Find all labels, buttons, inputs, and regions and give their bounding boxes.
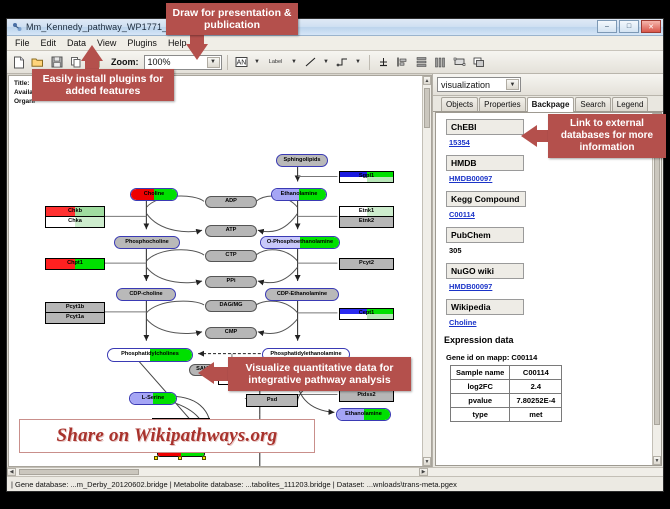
links-callout-arrow-icon (521, 125, 537, 147)
tab-backpage[interactable]: Backpage (527, 97, 575, 112)
backpage-content[interactable]: ChEBI 15354 HMDB HMDB00097 Kegg Compound… (435, 112, 662, 466)
plugins-callout-text: Easily install plugins for added feature… (38, 73, 168, 98)
db-link-kegg[interactable]: C00114 (449, 210, 661, 219)
db-value-pubchem: 305 (449, 246, 661, 255)
node-cdp-choline[interactable]: CDP-choline (116, 288, 176, 301)
chevron-down-icon[interactable]: ▼ (506, 79, 519, 90)
label-tool-text: Label (269, 59, 282, 65)
node-pcyt2[interactable]: Pcyt2 (339, 258, 394, 270)
node-label: CTP (225, 253, 236, 259)
gene-id-on-mapp: Gene id on mapp: C00114 (446, 353, 661, 362)
visualize-callout-arrow-icon (198, 362, 214, 384)
align-left-icon[interactable] (394, 54, 411, 71)
menu-plugins[interactable]: Plugins (125, 38, 159, 48)
table-row: Sample name C00114 (451, 366, 562, 380)
scroll-up-arrow[interactable]: ▲ (423, 76, 431, 85)
window-controls: – □ ✕ (597, 20, 661, 33)
node-psd[interactable]: Psd (246, 394, 298, 407)
close-button[interactable]: ✕ (641, 20, 661, 33)
node-pcyt1b[interactable]: Pcyt1b (45, 302, 105, 313)
toolbar-separator (227, 55, 228, 70)
node-label: Pcyt1b (66, 305, 84, 311)
node-atp[interactable]: ATP (205, 225, 257, 237)
visualization-value: visualization (441, 80, 490, 90)
menu-edit[interactable]: Edit (39, 38, 59, 48)
distribute-horizontal-icon[interactable] (432, 54, 449, 71)
draw-callout-arrow-icon (186, 44, 208, 60)
node-label: Psd (267, 398, 277, 404)
status-text: | Gene database: ...m_Derby_20120602.bri… (11, 480, 457, 489)
expr-key-type: type (451, 408, 510, 422)
links-callout: Link to external databases for more info… (548, 114, 666, 158)
node-label: Cept1 (359, 311, 375, 317)
draw-callout-text: Draw for presentation & publication (172, 7, 292, 32)
expr-key-pvalue: pvalue (451, 394, 510, 408)
anchor-icon[interactable] (375, 54, 392, 71)
tab-properties[interactable]: Properties (479, 97, 525, 111)
group-icon[interactable] (451, 54, 468, 71)
node-label: Sphingolipids (284, 158, 321, 164)
minimize-button[interactable]: – (597, 20, 617, 33)
db-link-hmdb[interactable]: HMDB00097 (449, 174, 661, 183)
expr-val-log2fc: 2.4 (510, 380, 562, 394)
tab-legend[interactable]: Legend (612, 97, 649, 111)
expr-val-type: met (510, 408, 562, 422)
line-icon[interactable] (302, 54, 319, 71)
node-chka[interactable]: Chka (45, 217, 105, 228)
connector-icon[interactable] (334, 54, 351, 71)
toolbar-separator-2 (369, 55, 370, 70)
node-pcyt1a[interactable]: Pcyt1a (45, 313, 105, 324)
node-label: O-Phosphoethanolamine (267, 240, 333, 246)
selection-handle-sw[interactable] (154, 456, 158, 460)
expr-val-pvalue: 7.80252E-4 (510, 394, 562, 408)
db-header-hmdb: HMDB (446, 155, 524, 171)
table-row: type met (451, 408, 562, 422)
db-header-kegg: Kegg Compound (446, 191, 526, 207)
scroll-left-arrow[interactable]: ◀ (7, 468, 16, 476)
line-style-dropdown-icon[interactable]: ▼ (321, 55, 332, 70)
node-label: Ethanolamine (345, 412, 382, 418)
node-label: CMP (225, 330, 237, 336)
visualize-callout-text: Visualize quantitative data for integrat… (234, 362, 405, 387)
node-ppi[interactable]: PPi (205, 276, 257, 288)
db-header-pubchem: PubChem (446, 227, 524, 243)
node-phosphatidylcholines[interactable]: Phosphatidylcholines (107, 348, 193, 362)
plugins-callout-arrow-icon (81, 45, 103, 61)
scroll-down-arrow[interactable]: ▼ (653, 456, 661, 465)
node-phosphocholine[interactable]: Phosphocholine (114, 236, 180, 249)
node-label: Choline (144, 192, 165, 198)
node-label: Pcyt2 (359, 261, 374, 267)
node-label: DAG/MG (220, 303, 243, 309)
node-chkb[interactable]: Chkb (45, 206, 105, 217)
node-label: CDP-Ethanolamine (277, 292, 327, 298)
db-header-wikipedia: Wikipedia (446, 299, 524, 315)
share-banner-text: Share on Wikipathways.org (57, 425, 278, 447)
node-cdp-ethanolamine[interactable]: CDP-Ethanolamine (265, 288, 339, 301)
menu-file[interactable]: File (13, 38, 32, 48)
node-ethanolamine-top[interactable]: Ethanolamine (271, 188, 327, 201)
share-banner: Share on Wikipathways.org (19, 419, 315, 453)
node-ptdss2[interactable]: Ptdss2 (339, 390, 394, 402)
node-label: PPi (226, 279, 235, 285)
scroll-thumb[interactable] (19, 469, 139, 475)
selection-handle-se[interactable] (202, 456, 206, 460)
table-row: pvalue 7.80252E-4 (451, 394, 562, 408)
node-label: Etnk2 (359, 219, 374, 225)
title-bar: Mm_Kennedy_pathway_WP1771_45176.gpml – □… (7, 19, 663, 36)
distribute-vertical-icon[interactable] (413, 54, 430, 71)
db-header-chebi: ChEBI (446, 119, 524, 135)
connector-dropdown-icon[interactable]: ▼ (353, 55, 364, 70)
node-label: Chkb (68, 209, 82, 215)
zoom-value: 100% (148, 57, 171, 67)
node-label: Pcyt1a (66, 315, 84, 321)
maximize-button[interactable]: □ (619, 20, 639, 33)
visualization-bar: visualization ▼ (433, 74, 663, 96)
canvas-horizontal-scrollbar[interactable]: ◀ ▶ (7, 467, 663, 476)
backpage-vertical-scrollbar[interactable]: ▲ ▼ (652, 113, 661, 465)
scroll-right-arrow[interactable]: ▶ (419, 468, 428, 476)
node-chpt1[interactable]: Chpt1 (45, 258, 105, 270)
node-label: Phosphocholine (125, 240, 169, 246)
svg-text:AN: AN (236, 60, 246, 67)
db-link-nugo-wiki[interactable]: HMDB00097 (449, 282, 661, 291)
selection-handle-s[interactable] (178, 456, 182, 460)
node-ethanolamine-bottom[interactable]: Ethanolamine (336, 408, 391, 421)
open-folder-icon[interactable] (29, 54, 46, 71)
scroll-down-arrow[interactable]: ▼ (423, 457, 431, 466)
node-label: ATP (226, 228, 237, 234)
node-cept1[interactable]: Cept1 (339, 308, 394, 320)
links-callout-text: Link to external databases for more info… (554, 118, 660, 153)
pathway-drawing[interactable]: Title: Availa Organi (9, 76, 431, 466)
node-label: Ethanolamine (281, 192, 318, 198)
node-choline-top[interactable]: Choline (130, 188, 178, 201)
node-etnk2[interactable]: Etnk2 (339, 217, 394, 228)
text-label-icon[interactable]: AN (233, 54, 250, 71)
node-label: L-Serine (142, 396, 164, 402)
new-file-icon[interactable] (10, 54, 27, 71)
node-o-phosphoethanolamine[interactable]: O-Phosphoethanolamine (260, 236, 340, 249)
expr-key-sample-name: Sample name (451, 366, 510, 380)
node-sphingolipids[interactable]: Sphingolipids (276, 154, 328, 167)
pathvisio-app-icon (11, 22, 22, 33)
db-link-wikipedia[interactable]: Choline (449, 318, 661, 327)
expression-table: Sample name C00114 log2FC 2.4 pvalue 7.8… (450, 365, 562, 422)
plugins-callout: Easily install plugins for added feature… (32, 69, 174, 101)
node-adp[interactable]: ADP (205, 196, 257, 208)
chevron-down-icon[interactable]: ▼ (207, 57, 220, 68)
visualize-callout: Visualize quantitative data for integrat… (228, 357, 411, 391)
expr-val-sample-name: C00114 (510, 366, 562, 380)
draw-callout: Draw for presentation & publication (166, 3, 298, 35)
label-tool-icon[interactable]: Label (265, 54, 287, 71)
text-label-dropdown-icon[interactable]: ▼ (252, 55, 263, 70)
status-bar: | Gene database: ...m_Derby_20120602.bri… (7, 476, 663, 491)
db-header-nugo-wiki: NuGO wiki (446, 263, 524, 279)
node-sgpl1[interactable]: Sgpl1 (339, 171, 394, 183)
node-label: ADP (225, 199, 237, 205)
tab-search[interactable]: Search (575, 97, 610, 111)
scroll-thumb[interactable] (424, 88, 430, 128)
visualization-combo[interactable]: visualization ▼ (437, 77, 521, 92)
node-label: Chka (68, 219, 82, 225)
node-label: Etnk1 (359, 209, 374, 215)
node-label: Ptdss2 (357, 393, 375, 399)
label-dropdown-icon[interactable]: ▼ (289, 55, 300, 70)
screenshot-root: Mm_Kennedy_pathway_WP1771_45176.gpml – □… (0, 0, 670, 509)
node-label: Chpt1 (67, 261, 83, 267)
node-ctp[interactable]: CTP (205, 250, 257, 262)
node-label: CDP-choline (129, 292, 162, 298)
menu-bar: File Edit Data View Plugins Help (7, 36, 663, 51)
tab-objects[interactable]: Objects (441, 97, 478, 111)
save-icon[interactable] (48, 54, 65, 71)
expression-data-heading: Expression data (444, 335, 661, 345)
zoom-label: Zoom: (111, 57, 139, 67)
node-cmp[interactable]: CMP (205, 327, 257, 339)
node-l-serine-left[interactable]: L-Serine (129, 392, 177, 405)
node-dag-mg[interactable]: DAG/MG (205, 300, 257, 312)
node-etnk1[interactable]: Etnk1 (339, 206, 394, 217)
scroll-thumb[interactable] (654, 125, 660, 425)
node-label: Sgpl1 (359, 174, 374, 180)
expr-key-log2fc: log2FC (451, 380, 510, 394)
side-panel-tabs: Objects Properties Backpage Search Legen… (433, 96, 663, 112)
node-label: Phosphatidylcholines (121, 352, 179, 358)
zoom-combo[interactable]: 100% ▼ (144, 55, 222, 70)
pathway-canvas[interactable]: Title: Availa Organi (8, 75, 432, 467)
canvas-vertical-scrollbar[interactable]: ▲ ▼ (422, 76, 431, 466)
table-row: log2FC 2.4 (451, 380, 562, 394)
order-icon[interactable] (470, 54, 487, 71)
